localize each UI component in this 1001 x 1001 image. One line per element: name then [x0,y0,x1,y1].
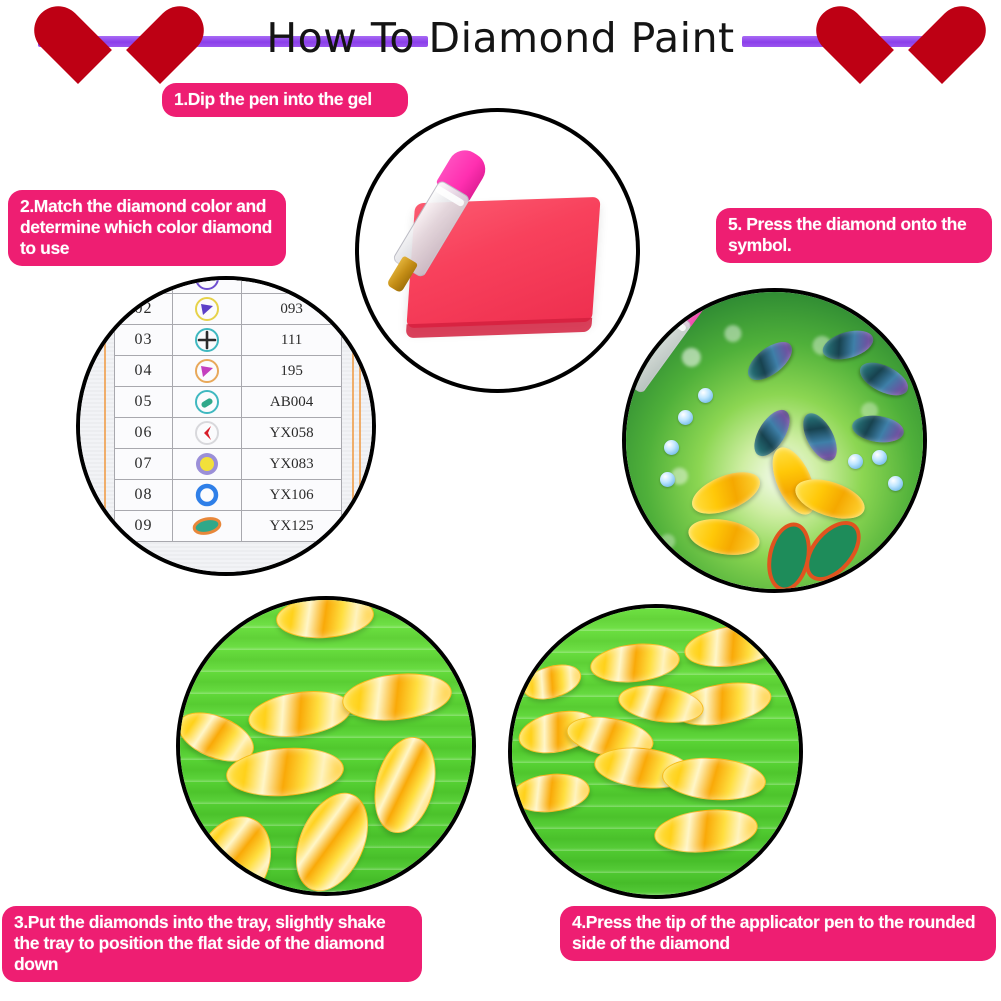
filled-circle-icon [194,451,220,477]
row-code: 195 [242,356,342,387]
table-row: 03 111 [115,325,342,356]
chevron-left-icon [194,420,220,446]
pen-picking-up-diamond-photo [508,604,803,899]
color-code-table: 01 026 [114,276,342,542]
pen-dipping-into-gel-photo [355,108,640,393]
table-row: 07 YX083 [115,449,342,480]
canvas-round-gem [888,476,903,491]
row-code: 093 [242,294,342,325]
chart-margin-line [104,280,106,572]
leaf-symbol [173,511,242,542]
two-dots-circle-symbol [173,276,242,294]
ring-symbol [173,480,242,511]
row-number: 09 [115,511,173,542]
chart-margin-line [352,280,354,572]
chevron-left-symbol [173,418,242,449]
table-row: 05 AB004 [115,387,342,418]
chart-paper: 01 026 [80,280,372,572]
step-3-label: 3.Put the diamonds into the tray, slight… [2,906,422,982]
two-dots-circle-icon [194,276,220,291]
page-title: How To Diamond Paint [0,14,1001,62]
placing-diamond-on-canvas-photo [622,288,927,593]
row-number: 05 [115,387,173,418]
row-code: YX125 [242,511,342,542]
row-code: YX083 [242,449,342,480]
row-number: 01 [115,276,173,294]
leaf-icon [192,515,222,537]
plus-symbol [173,325,242,356]
row-number: 06 [115,418,173,449]
row-number: 02 [115,294,173,325]
ring-icon [194,482,220,508]
table-row: 02 093 [115,294,342,325]
row-code: 111 [242,325,342,356]
table-row: 09 YX125 [115,511,342,542]
row-code: YX058 [242,418,342,449]
row-number: 07 [115,449,173,480]
row-number: 08 [115,480,173,511]
row-number: 04 [115,356,173,387]
canvas-round-gem [848,454,863,469]
table-row: 04 195 [115,356,342,387]
oval-bar-symbol [173,387,242,418]
oval-bar-icon [194,389,220,415]
step-2-label: 2.Match the diamond color and determine … [8,190,286,266]
step-4-label: 4.Press the tip of the applicator pen to… [560,906,996,961]
color-symbol-chart-photo: 01 026 [76,276,376,576]
table-row: 06 YX058 [115,418,342,449]
canvas-round-gem [678,410,693,425]
table-row: 01 026 [115,276,342,294]
row-code: AB004 [242,387,342,418]
table-row: 08 YX106 [115,480,342,511]
canvas-round-gem [872,450,887,465]
row-number: 03 [115,325,173,356]
filled-circle-symbol [173,449,242,480]
infographic-canvas: How To Diamond Paint 1.Dip the pen into … [0,0,1001,1001]
row-code: 026 [242,276,342,294]
canvas-round-gem [660,472,675,487]
gel-photo-scene [359,112,636,389]
chart-margin-line [359,280,361,572]
color-code-table-body: 01 026 [115,276,342,542]
triangle-symbol [173,294,242,325]
row-code: YX106 [242,480,342,511]
step-5-label: 5. Press the diamond onto the symbol. [716,208,992,263]
triangle-symbol [173,356,242,387]
canvas-round-gem [698,388,713,403]
diamonds-in-green-tray-photo [176,596,476,896]
plus-icon [194,327,220,353]
triangle-icon [194,296,220,322]
canvas-round-gem [664,440,679,455]
triangle-icon [194,358,220,384]
